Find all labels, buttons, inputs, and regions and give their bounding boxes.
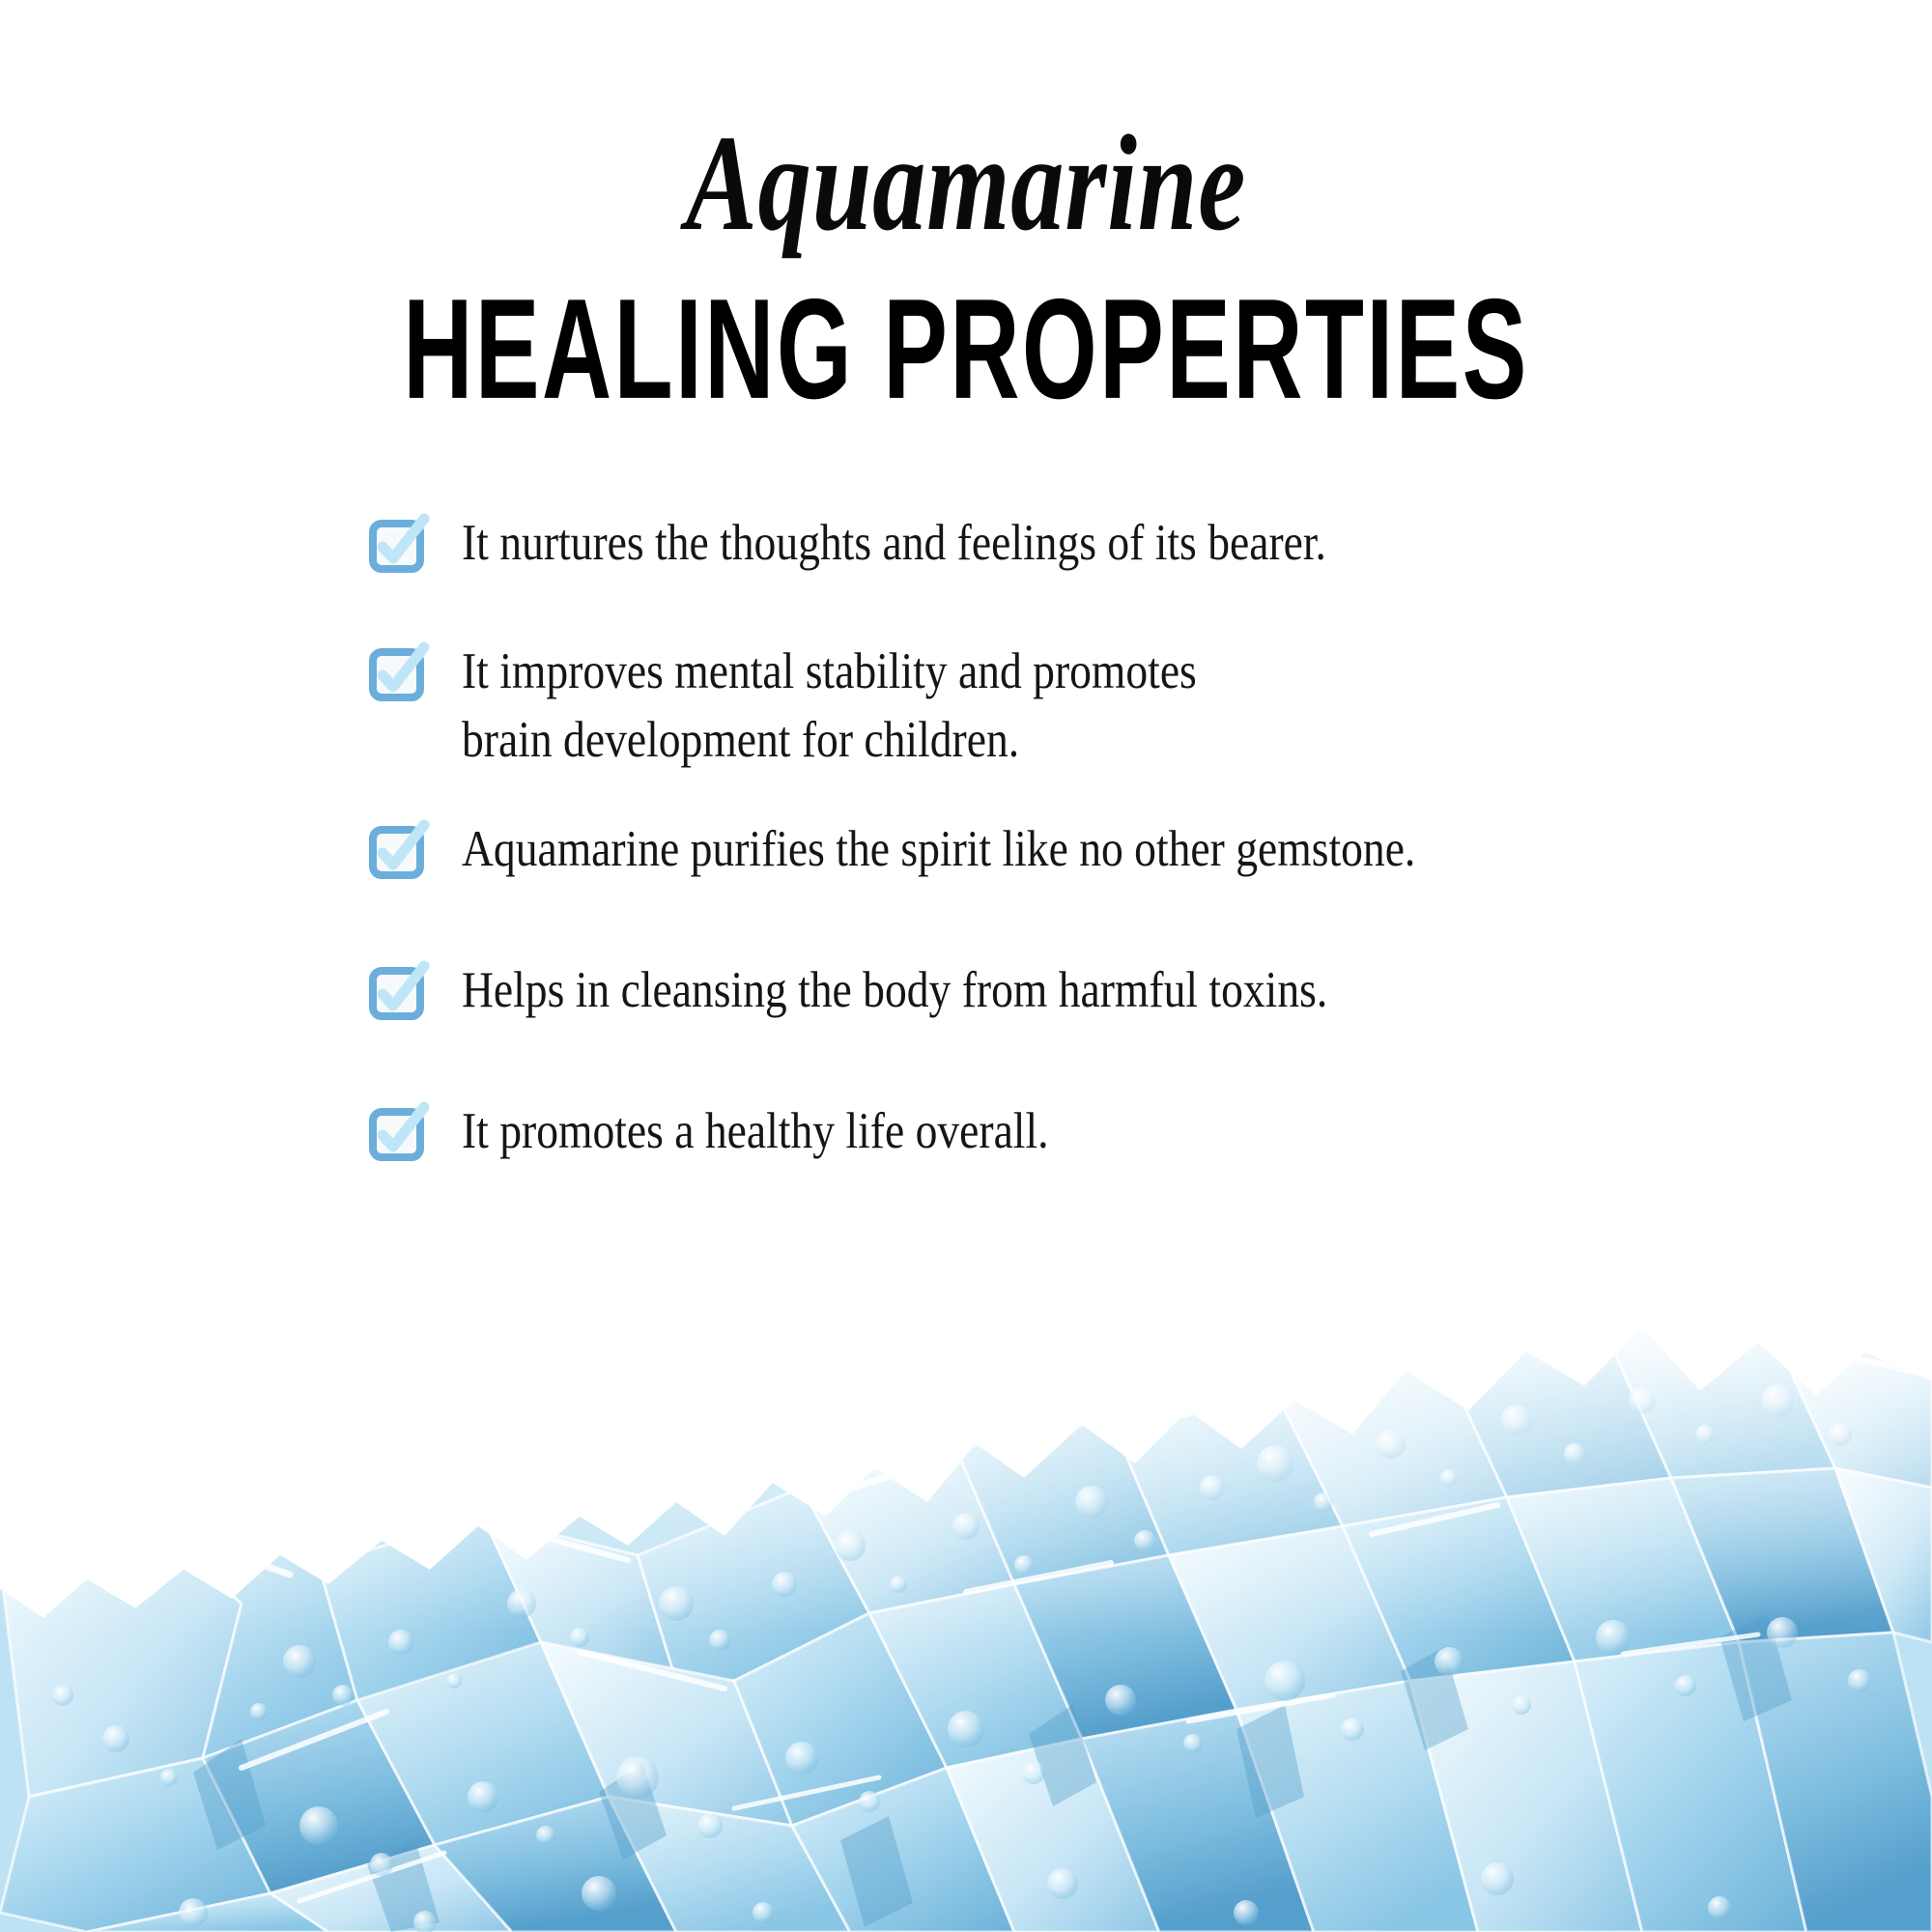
poster-canvas: Aquamarine HEALING PROPERTIES It nurture… — [0, 0, 1932, 1932]
checkbox-checked-icon — [369, 962, 429, 1022]
list-item-label: It nurtures the thoughts and feelings of… — [462, 509, 1604, 578]
checkbox-checked-icon — [369, 821, 429, 881]
page-title: Aquamarine — [213, 114, 1719, 251]
list-item-label: Helps in cleansing the body from harmful… — [462, 956, 1604, 1025]
list-item: It nurtures the thoughts and feelings of… — [369, 509, 1789, 578]
list-item: It improves mental stability and promote… — [369, 638, 1789, 775]
list-item: Helps in cleansing the body from harmful… — [369, 956, 1789, 1025]
ice-cubes-photo — [0, 1063, 1932, 1932]
list-item-label: Aquamarine purifies the spirit like no o… — [462, 815, 1604, 884]
list-item-label: It improves mental stability and promote… — [462, 638, 1604, 775]
list-item: Aquamarine purifies the spirit like no o… — [369, 815, 1789, 884]
list-item-label: It promotes a healthy life overall. — [462, 1097, 1604, 1166]
checkbox-checked-icon — [369, 1103, 429, 1163]
checkbox-checked-icon — [369, 515, 429, 575]
heading-block: Aquamarine HEALING PROPERTIES — [0, 0, 1932, 399]
page-subtitle: HEALING PROPERTIES — [193, 278, 1739, 421]
checkbox-checked-icon — [369, 643, 429, 703]
healing-properties-list: It nurtures the thoughts and feelings of… — [369, 509, 1789, 1166]
list-item: It promotes a healthy life overall. — [369, 1097, 1789, 1166]
